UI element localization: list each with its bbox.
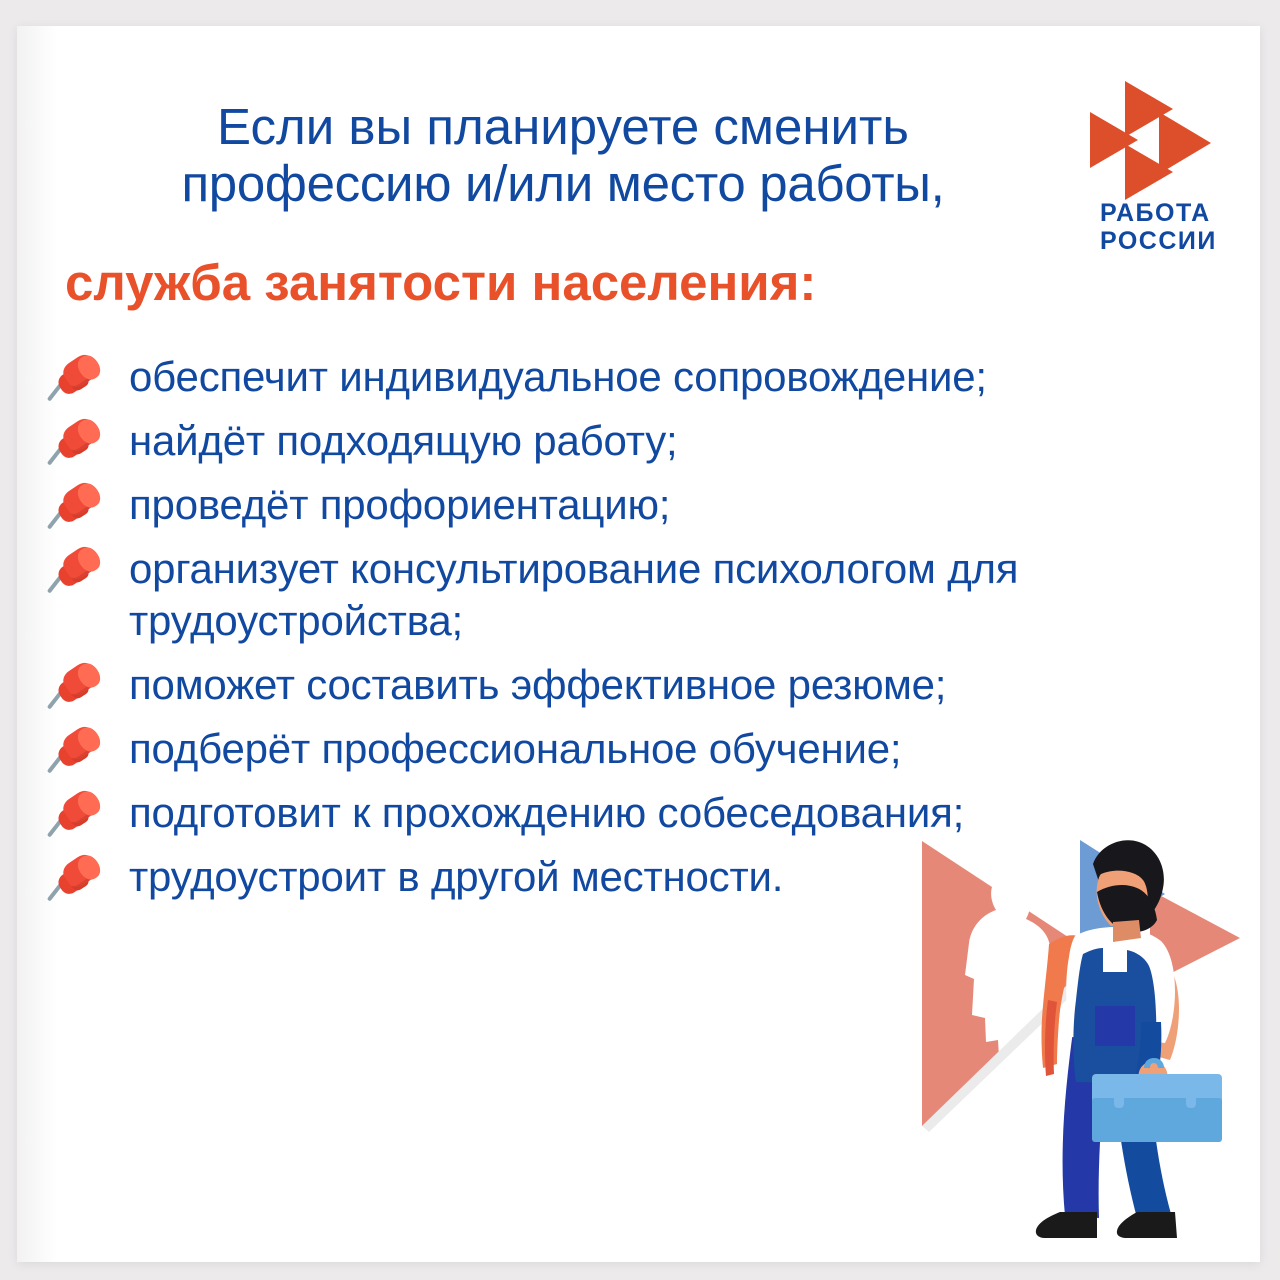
rabota-rossii-logo: РАБОТА РОССИИ xyxy=(1072,56,1252,256)
list-item-label: подберёт профессиональное обучение; xyxy=(129,725,901,772)
pushpin-icon xyxy=(55,725,113,783)
worker-shoe-back xyxy=(1036,1212,1097,1238)
pushpin-icon xyxy=(55,353,113,411)
list-item-label: поможет составить эффективное резюме; xyxy=(129,661,946,708)
logo-triangles-icon xyxy=(1090,81,1242,196)
list-item-label: обеспечит индивидуальное сопровождение; xyxy=(129,353,987,400)
list-item-label: трудоустроит в другой местности. xyxy=(129,853,783,900)
poster-card: РАБОТА РОССИИ Если вы планируете сменить… xyxy=(17,26,1260,1262)
pushpin-icon xyxy=(55,853,113,911)
pushpin-icon xyxy=(55,789,113,847)
list-item-label: организует консультирование психологом д… xyxy=(129,545,1018,644)
list-item: обеспечит индивидуальное сопровождение; xyxy=(53,351,1253,403)
pushpin-icon xyxy=(55,417,113,475)
worker-with-toolbox-illustration xyxy=(897,826,1260,1262)
logo-triangle-bottom xyxy=(1125,144,1173,200)
logo-word-line1: РАБОТА xyxy=(1100,199,1217,227)
page-headline: Если вы планируете сменить профессию и/и… xyxy=(63,98,1063,212)
list-item-label: проведёт профориентацию; xyxy=(129,481,670,528)
list-item-label: подготовит к прохождению собеседования; xyxy=(129,789,964,836)
list-item: проведёт профориентацию; xyxy=(53,479,1253,531)
poster-root: РАБОТА РОССИИ Если вы планируете сменить… xyxy=(0,0,1280,1280)
list-item: поможет составить эффективное резюме; xyxy=(53,659,1253,711)
headline-line-1: Если вы планируете сменить xyxy=(217,98,909,155)
pushpin-icon xyxy=(55,545,113,603)
pushpin-icon xyxy=(55,481,113,539)
list-item: организует консультирование психологом д… xyxy=(53,543,1253,647)
worker-overalls-pocket xyxy=(1095,1006,1135,1046)
logo-wordmark: РАБОТА РОССИИ xyxy=(1100,199,1217,255)
list-item: подберёт профессиональное обучение; xyxy=(53,723,1253,775)
headline-line-2: профессию и/или место работы, xyxy=(63,155,1063,212)
list-item: найдёт подходящую работу; xyxy=(53,415,1253,467)
worker-shoe-front xyxy=(1117,1212,1177,1238)
pushpin-icon xyxy=(55,661,113,719)
logo-word-line2: РОССИИ xyxy=(1100,227,1217,255)
page-subheadline: служба занятости населения: xyxy=(65,254,816,311)
list-item-label: найдёт подходящую работу; xyxy=(129,417,677,464)
